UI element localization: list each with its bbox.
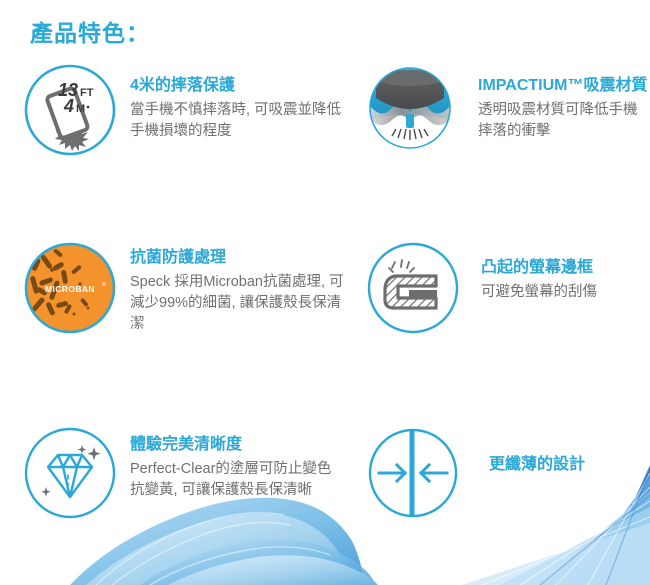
svg-text:®: ®	[102, 281, 106, 288]
feature-raised-bezel: 凸起的螢幕邊框 可避免螢幕的刮傷	[365, 240, 597, 336]
feature-heading: 體驗完美清晰度	[130, 435, 345, 454]
diamond-clarity-icon	[22, 425, 118, 521]
feature-clarity: 體驗完美清晰度 Perfect-Clear的塗層可防止變色抗變黃, 可讓保護殼長…	[22, 425, 345, 521]
feature-antimicrobial: MICROBAN ® 抗菌防護處理 Speck 採用Microban抗菌處理, …	[22, 240, 345, 336]
microban-antimicrobial-icon: MICROBAN ®	[22, 240, 118, 336]
feature-text-block: 4米的摔落保護 當手機不慎摔落時, 可吸震並降低手機損壞的程度	[130, 62, 345, 142]
feature-drop-protection: 13 FT 4 M 4米的摔落保護 當手機不慎摔落時, 可吸震並降低手機損壞的程…	[22, 62, 345, 158]
impactium-cushion-icon	[362, 58, 458, 154]
page-title: 產品特色：	[30, 22, 150, 45]
feature-heading: 4米的摔落保護	[130, 76, 345, 95]
feature-description: 可避免螢幕的刮傷	[481, 282, 597, 303]
product-features-page: 產品特色： 13 FT 4 M 4米的摔落保護	[0, 0, 650, 585]
feature-text-block: 凸起的螢幕邊框 可避免螢幕的刮傷	[481, 240, 597, 303]
feature-text-block: 體驗完美清晰度 Perfect-Clear的塗層可防止變色抗變黃, 可讓保護殼長…	[130, 425, 345, 501]
feature-description: Speck 採用Microban抗菌處理, 可減少99%的細菌, 讓保護殼長保清…	[130, 272, 345, 335]
feature-description: 透明吸震材質可降低手機摔落的衝擊	[478, 100, 650, 142]
feature-text-block: 更纖薄的設計	[489, 425, 585, 479]
slim-design-icon	[365, 425, 461, 521]
feature-impactium: IMPACTIUM™吸震材質 透明吸震材質可降低手機摔落的衝擊	[362, 58, 650, 154]
feature-heading: 凸起的螢幕邊框	[481, 258, 597, 277]
feature-heading: 更纖薄的設計	[489, 455, 585, 474]
raised-bezel-icon	[365, 240, 461, 336]
feature-text-block: 抗菌防護處理 Speck 採用Microban抗菌處理, 可減少99%的細菌, …	[130, 240, 345, 335]
feature-description: Perfect-Clear的塗層可防止變色抗變黃, 可讓保護殼長保清晰	[130, 459, 345, 501]
feature-heading: 抗菌防護處理	[130, 248, 345, 267]
drop-protection-icon: 13 FT 4 M	[22, 62, 118, 158]
feature-heading: IMPACTIUM™吸震材質	[478, 76, 650, 95]
svg-text:M: M	[76, 103, 85, 115]
feature-slim-design: 更纖薄的設計	[365, 425, 585, 521]
svg-text:4: 4	[63, 96, 74, 116]
feature-text-block: IMPACTIUM™吸震材質 透明吸震材質可降低手機摔落的衝擊	[478, 58, 650, 142]
svg-text:FT: FT	[80, 87, 94, 99]
feature-description: 當手機不慎摔落時, 可吸震並降低手機損壞的程度	[130, 100, 345, 142]
svg-text:MICROBAN: MICROBAN	[45, 284, 95, 294]
